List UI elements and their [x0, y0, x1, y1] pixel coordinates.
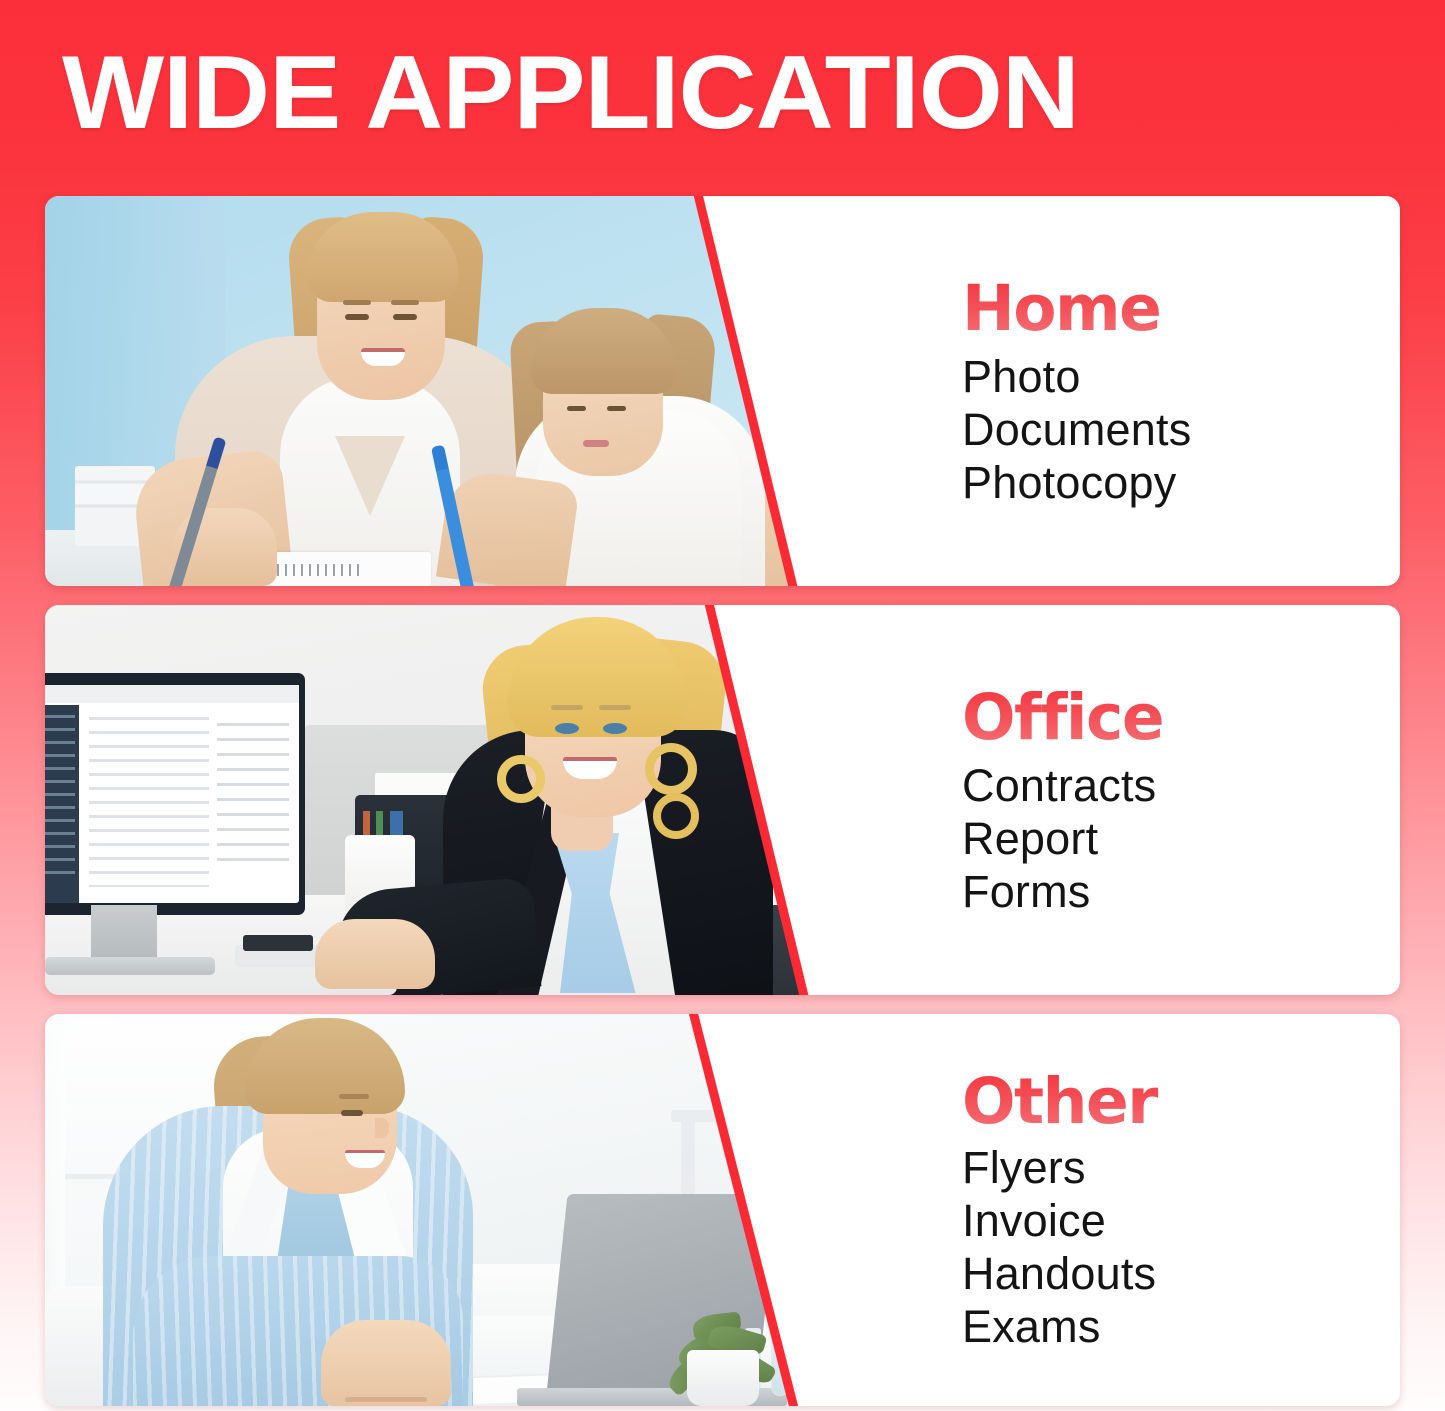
- woman-eye-right: [603, 723, 627, 734]
- app-toolbar: [45, 685, 299, 703]
- application-card-home[interactable]: Home Photo Documents Photocopy: [45, 196, 1400, 586]
- card-item-list: Flyers Invoice Handouts Exams: [962, 1141, 1400, 1353]
- woman-nose: [375, 1118, 389, 1138]
- woman-brow-right: [599, 705, 631, 710]
- card-text-pane-home: Home Photo Documents Photocopy: [800, 196, 1400, 586]
- card-item-list: Photo Documents Photocopy: [962, 350, 1400, 509]
- woman-eye-left: [555, 723, 579, 734]
- finger-line: [345, 1397, 427, 1402]
- woman-eye: [341, 1110, 363, 1116]
- woman-smile: [361, 348, 405, 366]
- card-text-pane-office: Office Contracts Report Forms: [800, 605, 1400, 995]
- page-title: WIDE APPLICATION: [62, 38, 1079, 148]
- woman-brow: [339, 1094, 369, 1099]
- card-heading: Other: [962, 1067, 1400, 1137]
- application-card-office[interactable]: Office Contracts Report Forms: [45, 605, 1400, 995]
- sidebar-rows: [45, 715, 75, 880]
- hair-curl: [645, 743, 697, 795]
- woman-brow-left: [551, 705, 583, 710]
- lab-workspace-photo: [45, 1014, 845, 1406]
- list-item: Documents: [962, 403, 1400, 456]
- list-item: Invoice: [962, 1194, 1400, 1247]
- list-item: Report: [962, 812, 1400, 865]
- document-text-rows: [89, 717, 209, 887]
- woman-eye-left: [345, 314, 369, 320]
- list-item: Photo: [962, 350, 1400, 403]
- monitor-stand: [91, 905, 157, 961]
- document-text-rows-right: [217, 723, 289, 873]
- home-study-photo: [45, 196, 845, 586]
- list-item: Photocopy: [962, 456, 1400, 509]
- woman-brow-left: [343, 300, 371, 305]
- title-banner: WIDE APPLICATION: [0, 0, 1445, 170]
- list-item: Exams: [962, 1300, 1400, 1353]
- list-item: Forms: [962, 865, 1400, 918]
- list-item: Flyers: [962, 1141, 1400, 1194]
- poster-root: WIDE APPLICATION: [0, 0, 1445, 1411]
- card-text-pane-other: Other Flyers Invoice Handouts Exams: [800, 1014, 1400, 1406]
- card-heading: Home: [962, 274, 1400, 344]
- girl-eye-left: [567, 406, 586, 411]
- woman-eye-right: [393, 314, 417, 320]
- plant-pot: [687, 1350, 759, 1406]
- woman-clasped-hands: [321, 1320, 451, 1406]
- girl-mouth: [583, 440, 609, 447]
- hair-curl: [653, 793, 699, 839]
- list-item: Contracts: [962, 759, 1400, 812]
- woman-hand: [315, 919, 435, 989]
- card-item-list: Contracts Report Forms: [962, 759, 1400, 918]
- card-heading: Office: [962, 683, 1400, 753]
- woman-brow-right: [391, 300, 419, 305]
- monitor-foot: [45, 957, 215, 975]
- hair-curl: [497, 755, 545, 803]
- list-item: Handouts: [962, 1247, 1400, 1300]
- smartphone: [243, 935, 313, 951]
- girl-eye-right: [607, 406, 626, 411]
- application-card-other[interactable]: Other Flyers Invoice Handouts Exams: [45, 1014, 1400, 1406]
